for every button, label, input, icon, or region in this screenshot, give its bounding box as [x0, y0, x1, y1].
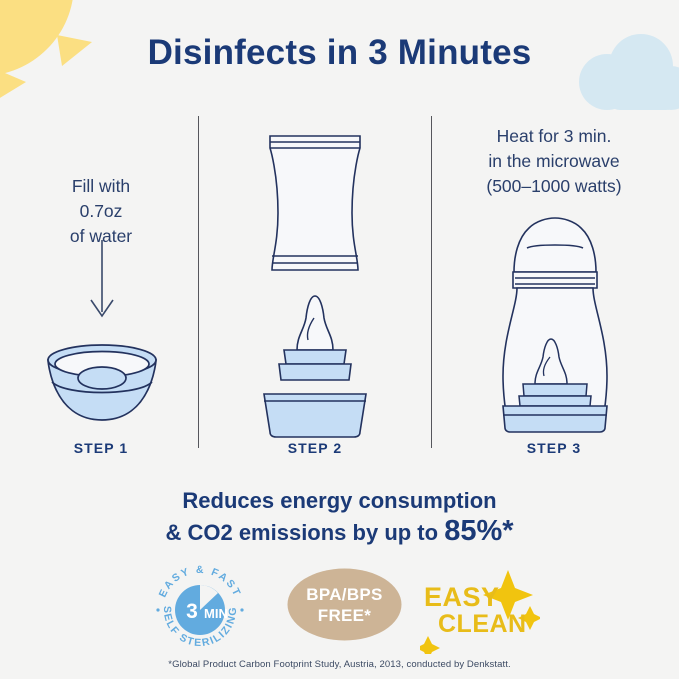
badge-3min-graphic: EASY & FAST SELF STERILIZING 3 MIN [152, 562, 248, 658]
badge-3min: EASY & FAST SELF STERILIZING 3 MIN [152, 562, 248, 663]
step-1-label: STEP 1 [6, 440, 196, 456]
step-3-column: Heat for 3 min. in the microwave (500–10… [434, 112, 674, 199]
column-divider-1 [198, 116, 199, 448]
eco-claim: Reduces energy consumption & CO2 emissio… [0, 485, 679, 548]
step-3-caption-line-2: in the microwave [434, 149, 674, 174]
eco-claim-percent: 85% [444, 515, 502, 547]
infographic-canvas: Disinfects in 3 Minutes Fill with 0.7oz … [0, 0, 679, 679]
step-3-caption-line-1: Heat for 3 min. [434, 124, 674, 149]
step-3-label: STEP 3 [434, 440, 674, 456]
badge-easy-clean-text: EASY CLEAN [424, 584, 527, 638]
footnote: *Global Product Carbon Footprint Study, … [0, 659, 679, 670]
eco-claim-prefix: & CO2 emissions by up to [165, 520, 444, 545]
badge-row: EASY & FAST SELF STERILIZING 3 MIN BPA/B… [0, 562, 679, 657]
eco-claim-asterisk: * [502, 515, 513, 547]
badge-easy-clean: EASY CLEAN [420, 562, 540, 659]
step-1-caption-line-1: Fill with [6, 174, 196, 199]
badge-bpa-free: BPA/BPS FREE* [287, 567, 402, 647]
bottle-parts-icon [240, 118, 390, 438]
eco-claim-line-2: & CO2 emissions by up to 85%* [0, 516, 679, 548]
badge-3min-dot-right [240, 608, 243, 611]
column-divider-2 [431, 116, 432, 448]
step-1-column: Fill with 0.7oz of water [6, 112, 196, 249]
badge-3min-dot-left [156, 608, 159, 611]
eco-claim-line-1: Reduces energy consumption [0, 485, 679, 516]
badge-easy-clean-line-2: CLEAN [438, 611, 527, 638]
step-2-label: STEP 2 [200, 440, 430, 456]
badge-3min-unit: MIN [204, 606, 228, 621]
badge-bpa-ellipse [287, 567, 402, 642]
step-1-caption-line-2: 0.7oz [6, 199, 196, 224]
sparkle-corner-icon [420, 636, 440, 654]
bowl-with-water-icon [32, 338, 172, 443]
badge-3min-number: 3 [186, 600, 198, 623]
assembled-bottle-icon [473, 196, 623, 436]
page-title: Disinfects in 3 Minutes [0, 33, 679, 73]
badge-easy-clean-line-1: EASY [424, 584, 527, 611]
down-arrow-icon [82, 240, 122, 330]
